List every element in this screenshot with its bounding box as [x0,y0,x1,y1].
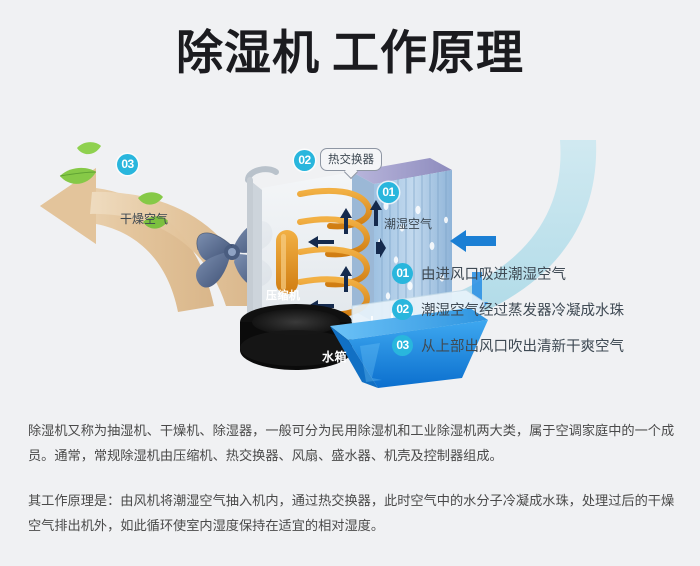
legend-text-02: 潮湿空气经过蒸发器冷凝成水珠 [421,299,624,320]
leaf-icon-2 [77,142,101,154]
body-paragraph-2: 其工作原理是：由风机将潮湿空气抽入机内，通过热交换器，此时空气中的水分子冷凝成水… [28,488,676,538]
page-title-part2: 工作原理 [332,26,524,79]
diagram-label-water-tank: 水箱 [322,348,347,365]
legend-text-03: 从上部出风口吹出清新干爽空气 [421,335,624,356]
page-title-part1: 除湿机 [176,26,320,79]
legend-badge-03: 03 [392,335,413,356]
legend-item-02: 02 潮湿空气经过蒸发器冷凝成水珠 [392,291,682,327]
legend-list: 01 由进风口吸进潮湿空气 02 潮湿空气经过蒸发器冷凝成水珠 03 从上部出风… [392,255,682,363]
diagram-badge-heat-exchanger: 02 [294,150,315,171]
body-copy: 除湿机又称为抽湿机、干燥机、除湿器，一般可分为民用除湿机和工业除湿机两大类，属于… [28,418,676,538]
page-title: 除湿机工作原理 [0,26,700,80]
diagram-badge-humid-air: 01 [378,182,399,203]
legend-text-01: 由进风口吸进潮湿空气 [421,263,566,284]
inflow-arrow-icon [450,230,496,252]
accumulator-cylinder [276,230,298,294]
legend-item-03: 03 从上部出风口吹出清新干爽空气 [392,327,682,363]
diagram-label-compressor: 压缩机 [266,287,301,303]
diagram-badge-dry-air: 03 [117,154,138,175]
body-paragraph-1: 除湿机又称为抽湿机、干燥机、除湿器，一般可分为民用除湿机和工业除湿机两大类，属于… [28,418,676,468]
diagram-bubble-heat-exchanger: 热交换器 [320,148,382,171]
diagram-label-dry-air: 干燥空气 [120,210,168,227]
diagram-label-humid-air: 潮湿空气 [384,215,432,232]
legend-item-01: 01 由进风口吸进潮湿空气 [392,255,682,291]
legend-badge-01: 01 [392,263,413,284]
title-area: 除湿机工作原理 [0,26,700,80]
legend-badge-02: 02 [392,299,413,320]
